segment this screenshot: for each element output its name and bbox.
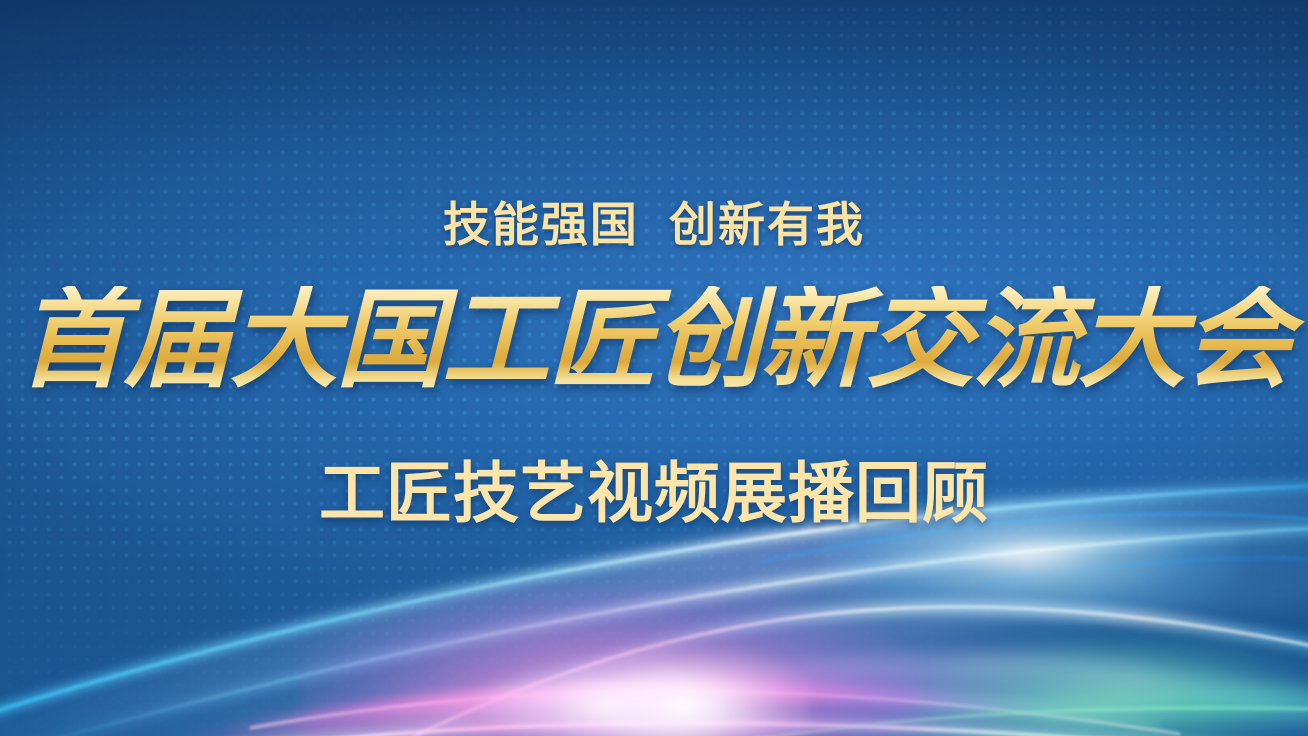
banner-poster: 技能强国 创新有我 首届大国工匠创新交流大会 工匠技艺视频展播回顾 [0,0,1308,736]
banner-kicker: 技能强国 创新有我 [0,186,1308,255]
banner-subtitle: 工匠技艺视频展播回顾 [0,440,1308,536]
text-content: 技能强国 创新有我 首届大国工匠创新交流大会 工匠技艺视频展播回顾 [0,0,1308,736]
page-title: 首届大国工匠创新交流大会 [0,286,1308,394]
